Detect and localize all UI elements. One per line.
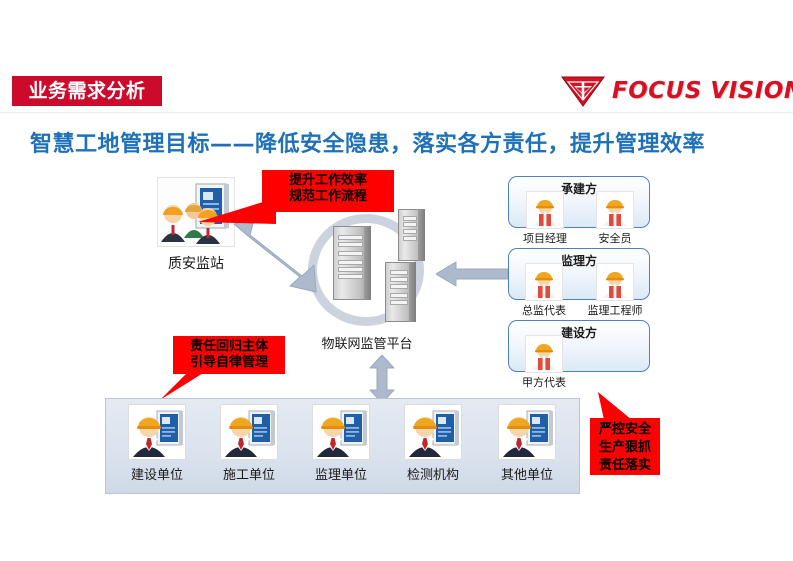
unit-item-construction-firm[interactable]: 施工单位: [206, 404, 292, 483]
arrow-platform-to-units: [368, 355, 396, 403]
platform-label: 物联网监管平台: [307, 333, 427, 352]
manager-monitor-icon: [128, 404, 186, 460]
party-member-supervision-engineer: 监理工程师: [581, 263, 649, 318]
responsibility-callout: 责任回归主体 引导自律管理: [173, 336, 285, 374]
worker-helmet-icon: [596, 191, 634, 229]
manager-monitor-icon: [498, 404, 556, 460]
manager-monitor-icon: [220, 404, 278, 460]
party-member-name: 总监代表: [513, 302, 575, 318]
party-box-owner: 建设方 甲方代表: [508, 320, 650, 372]
party-member-owner-rep: 甲方代表: [513, 335, 575, 390]
logo-wordmark: FOCUS VISION: [612, 78, 793, 104]
brand-logo: FOCUS VISION: [560, 74, 780, 108]
arrow-parties-to-platform: [436, 260, 508, 288]
manager-monitor-icon: [404, 404, 462, 460]
party-member-name: 监理工程师: [581, 302, 649, 318]
unit-item-testing-agency[interactable]: 检测机构: [390, 404, 476, 483]
server-icon-main: [333, 226, 371, 300]
party-box-contractor: 承建方 项目经理: [508, 176, 650, 228]
party-member-safety-officer: 安全员: [585, 191, 645, 246]
page-title: 智慧工地管理目标——降低安全隐患，落实各方责任，提升管理效率: [30, 126, 770, 158]
efficiency-callout: 提升工作效率 规范工作流程: [262, 170, 394, 212]
unit-label: 监理单位: [298, 464, 384, 483]
worker-helmet-icon: [525, 263, 563, 301]
unit-item-supervision-firm[interactable]: 监理单位: [298, 404, 384, 483]
worker-helmet-icon: [525, 335, 563, 373]
unit-label: 检测机构: [390, 464, 476, 483]
party-member-name: 项目经理: [515, 230, 575, 246]
party-member-project-manager: 项目经理: [515, 191, 575, 246]
manager-monitor-icon: [312, 404, 370, 460]
worker-helmet-icon: [596, 263, 634, 301]
party-member-name: 甲方代表: [513, 374, 575, 390]
focus-vision-triangle-icon: [560, 74, 606, 108]
worker-helmet-icon: [526, 191, 564, 229]
server-icon-tertiary: [385, 262, 416, 322]
safety-callout: 严控安全 生产狠抓 责任落实: [590, 418, 660, 475]
units-panel: 建设单位: [105, 398, 580, 494]
unit-item-construction-owner[interactable]: 建设单位: [114, 404, 200, 483]
unit-label: 建设单位: [114, 464, 200, 483]
unit-item-other[interactable]: 其他单位: [484, 404, 570, 483]
server-icon-secondary: [398, 209, 425, 261]
section-banner: 业务需求分析: [12, 76, 162, 106]
party-member-name: 安全员: [585, 230, 645, 246]
party-member-chief-rep: 总监代表: [513, 263, 575, 318]
slide-root: 业务需求分析 FOCUS VISION 智慧工地管理目标——降低安全隐患，落实各…: [0, 0, 793, 561]
party-box-supervisor: 监理方 总监代表: [508, 248, 650, 300]
unit-label: 其他单位: [484, 464, 570, 483]
banner-label: 业务需求分析: [28, 82, 145, 101]
unit-label: 施工单位: [206, 464, 292, 483]
header-divider: [0, 112, 793, 113]
